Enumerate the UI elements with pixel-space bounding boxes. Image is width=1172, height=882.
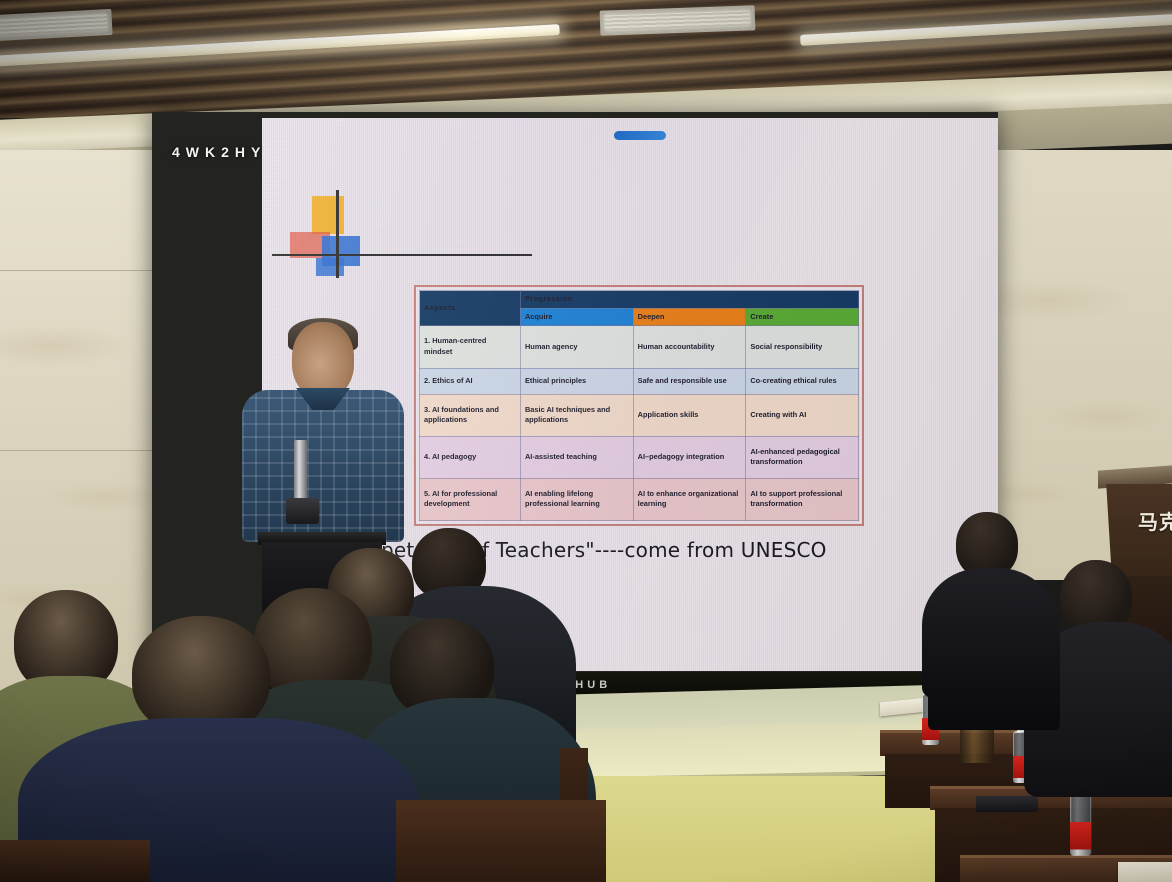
competency-matrix-table: Aspects Progression Acquire Deepen Creat… (414, 285, 864, 526)
ceiling-strip-light (0, 24, 560, 67)
blue-square-small-icon (316, 258, 344, 276)
aspects-header: Aspects (420, 291, 521, 326)
slide-title-bar (614, 131, 666, 140)
presenter-plaid-shirt (242, 390, 404, 542)
wall-panel-seam (0, 450, 170, 451)
row-aspect: 5. AI for professional development (420, 478, 521, 520)
ceiling-air-vent (0, 9, 113, 41)
yellow-square-icon (312, 196, 344, 234)
lecture-room-scene: 4WK2HY Aspects Progression Acquire (0, 0, 1172, 882)
attendee-coat (928, 590, 1060, 730)
table-row: 1. Human-centred mindset Human agency Hu… (420, 326, 859, 368)
cell-create: AI to support professional transformatio… (746, 478, 859, 520)
row-aspect: 1. Human-centred mindset (420, 326, 521, 368)
cell-deepen: Safe and responsible use (633, 368, 746, 394)
cell-acquire: Ethical principles (520, 368, 633, 394)
cell-deepen: AI to enhance organizational learning (633, 478, 746, 520)
table-row: 4. AI pedagogy AI-assisted teaching AI–p… (420, 436, 859, 478)
handheld-microphone (294, 440, 307, 502)
bottle-liquid (1071, 793, 1090, 823)
wall-panel-seam (0, 270, 170, 271)
cell-create: Creating with AI (746, 394, 859, 436)
attendee-person (928, 590, 1048, 730)
progression-header: Progression (520, 291, 858, 309)
slide-decoration-squares (290, 196, 530, 288)
cell-create: Social responsibility (746, 326, 859, 368)
screen-overlay-code: 4WK2HY (172, 144, 266, 160)
ceiling-air-vent (600, 5, 756, 35)
cell-acquire: AI enabling lifelong professional learni… (520, 478, 633, 520)
bottle-label (1070, 822, 1091, 850)
row-aspect: 4. AI pedagogy (420, 436, 521, 478)
chair-back (396, 800, 606, 882)
table-row: 5. AI for professional development AI en… (420, 478, 859, 520)
subheader-create: Create (746, 308, 859, 326)
cell-create: AI-enhanced pedagogical transformation (746, 436, 859, 478)
table-row: 3. AI foundations and applications Basic… (420, 394, 859, 436)
row-aspect: 2. Ethics of AI (420, 368, 521, 394)
horizontal-rule (272, 254, 532, 256)
cell-deepen: Application skills (633, 394, 746, 436)
chair-back (0, 840, 150, 882)
table-row: 2. Ethics of AI Ethical principles Safe … (420, 368, 859, 394)
table-header-group-row: Aspects Progression (420, 291, 859, 309)
subheader-acquire: Acquire (520, 308, 633, 326)
tablet-device (976, 796, 1038, 812)
cell-create: Co-creating ethical rules (746, 368, 859, 394)
paper-stack (1118, 862, 1172, 882)
microphone-base (286, 498, 319, 524)
cell-acquire: AI-assisted teaching (520, 436, 633, 478)
ceiling-strip-light (800, 13, 1172, 46)
cell-acquire: Basic AI techniques and applications (520, 394, 633, 436)
cell-acquire: Human agency (520, 326, 633, 368)
row-aspect: 3. AI foundations and applications (420, 394, 521, 436)
cell-deepen: Human accountability (633, 326, 746, 368)
presenter-head (292, 322, 354, 398)
cell-deepen: AI–pedagogy integration (633, 436, 746, 478)
podium-text: 马克 (1138, 506, 1172, 535)
subheader-deepen: Deepen (633, 308, 746, 326)
vertical-rule (336, 190, 339, 278)
